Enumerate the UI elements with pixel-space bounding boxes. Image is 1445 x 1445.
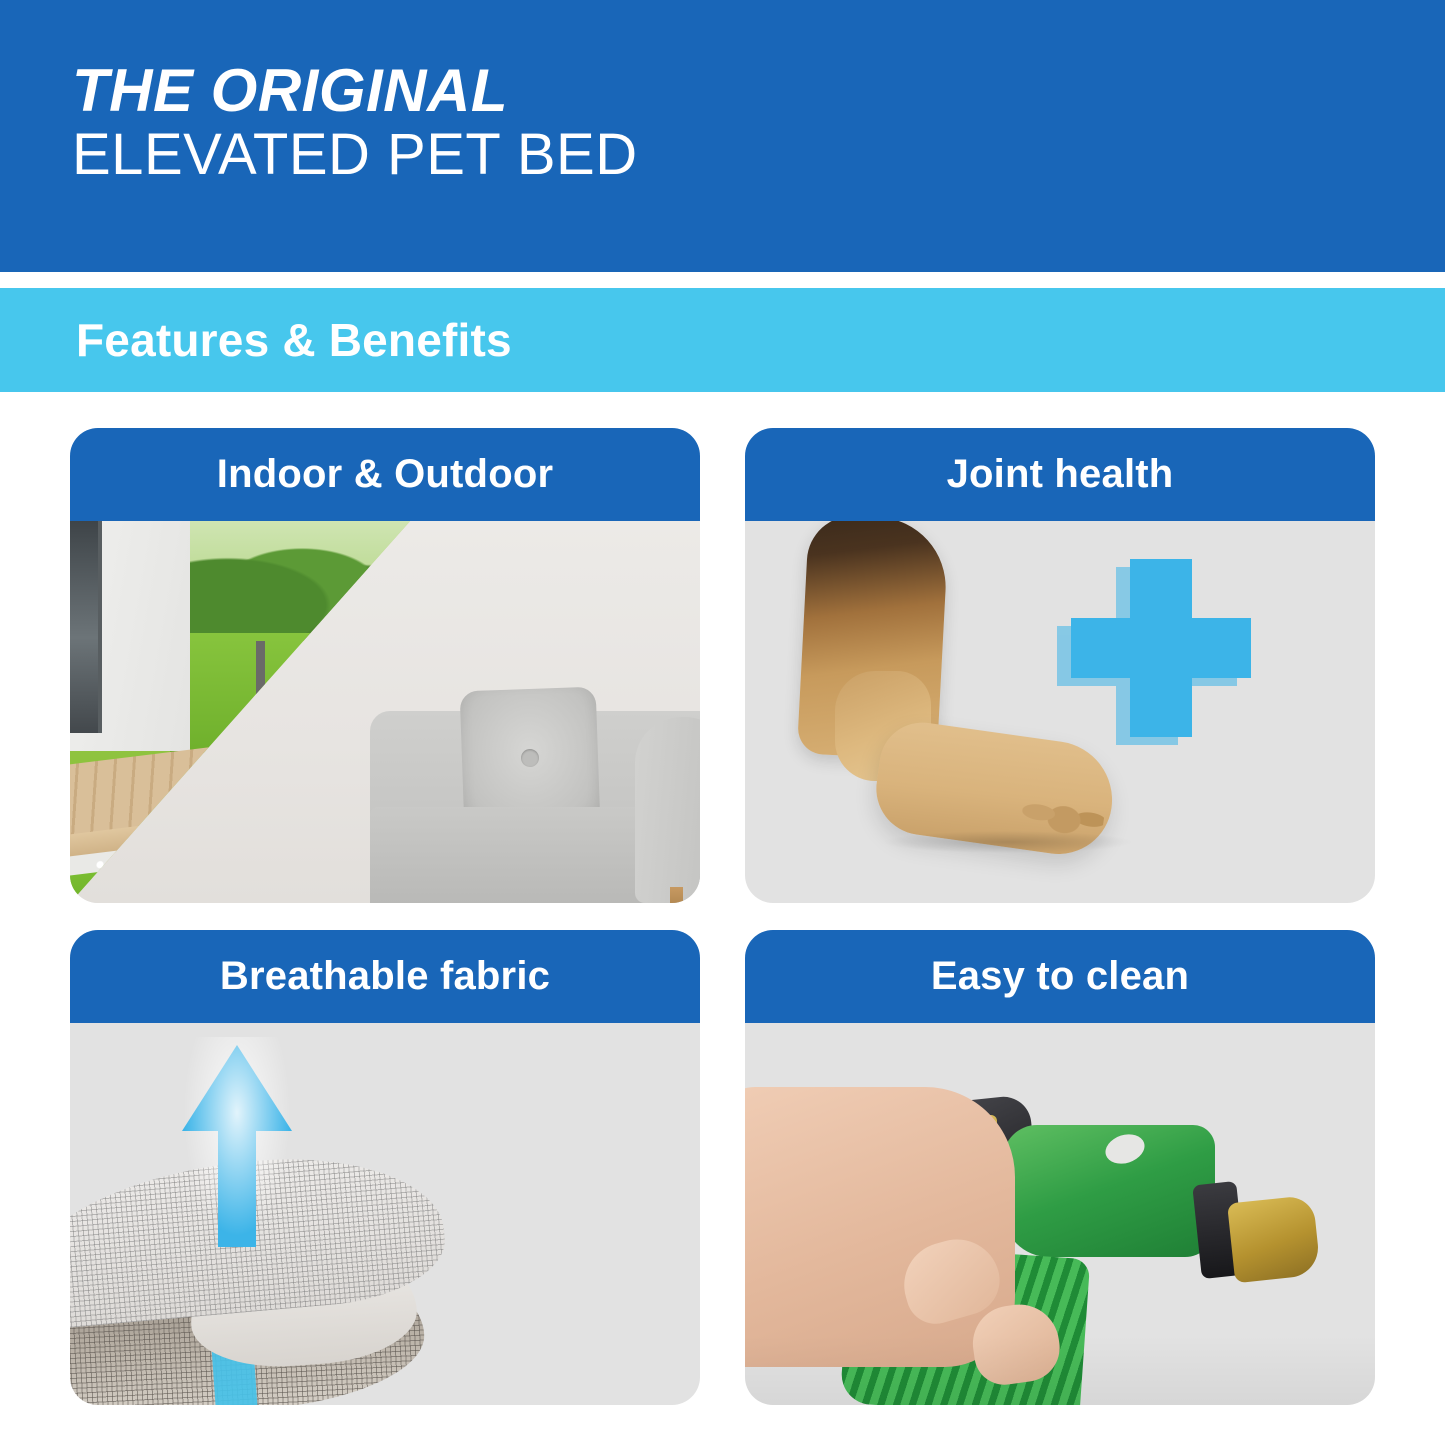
up-arrow-airflow-icon bbox=[182, 1045, 292, 1245]
sofa-armrest bbox=[635, 717, 700, 903]
drop-shadow bbox=[745, 1335, 1375, 1405]
paw-shadow bbox=[885, 831, 1131, 853]
card-title: Easy to clean bbox=[931, 954, 1189, 999]
medical-cross-front-icon bbox=[1071, 559, 1251, 737]
card-image-breathable-fabric bbox=[70, 1023, 700, 1405]
feature-card-indoor-outdoor: Indoor & Outdoor bbox=[70, 428, 700, 903]
card-header-easy-to-clean: Easy to clean bbox=[745, 930, 1375, 1023]
house-wall bbox=[70, 521, 190, 751]
cross-horizontal-bar bbox=[1071, 618, 1251, 679]
card-image-joint-health bbox=[745, 521, 1375, 903]
card-title: Indoor & Outdoor bbox=[217, 452, 553, 497]
card-header-indoor-outdoor: Indoor & Outdoor bbox=[70, 428, 700, 521]
card-image-easy-to-clean bbox=[745, 1023, 1375, 1405]
cushion-button bbox=[521, 749, 540, 768]
card-title: Joint health bbox=[947, 452, 1174, 497]
split-scene-indoor-outdoor-icon bbox=[70, 521, 700, 903]
card-header-joint-health: Joint health bbox=[745, 428, 1375, 521]
card-title: Breathable fabric bbox=[220, 954, 550, 999]
arrow-glow bbox=[176, 1037, 298, 1253]
card-header-breathable-fabric: Breathable fabric bbox=[70, 930, 700, 1023]
hand bbox=[745, 1087, 1015, 1367]
medical-cross-icon bbox=[1071, 559, 1251, 737]
card-image-indoor-outdoor bbox=[70, 521, 700, 903]
window-pane bbox=[70, 521, 102, 733]
sofa-leg bbox=[670, 887, 683, 903]
feature-card-joint-health: Joint health bbox=[745, 428, 1375, 903]
brass-nozzle-tip bbox=[1227, 1195, 1321, 1284]
feature-card-grid: Indoor & Outdoor bbox=[0, 0, 1445, 1445]
feature-card-breathable-fabric: Breathable fabric bbox=[70, 930, 700, 1405]
feature-card-easy-to-clean: Easy to clean bbox=[745, 930, 1375, 1405]
